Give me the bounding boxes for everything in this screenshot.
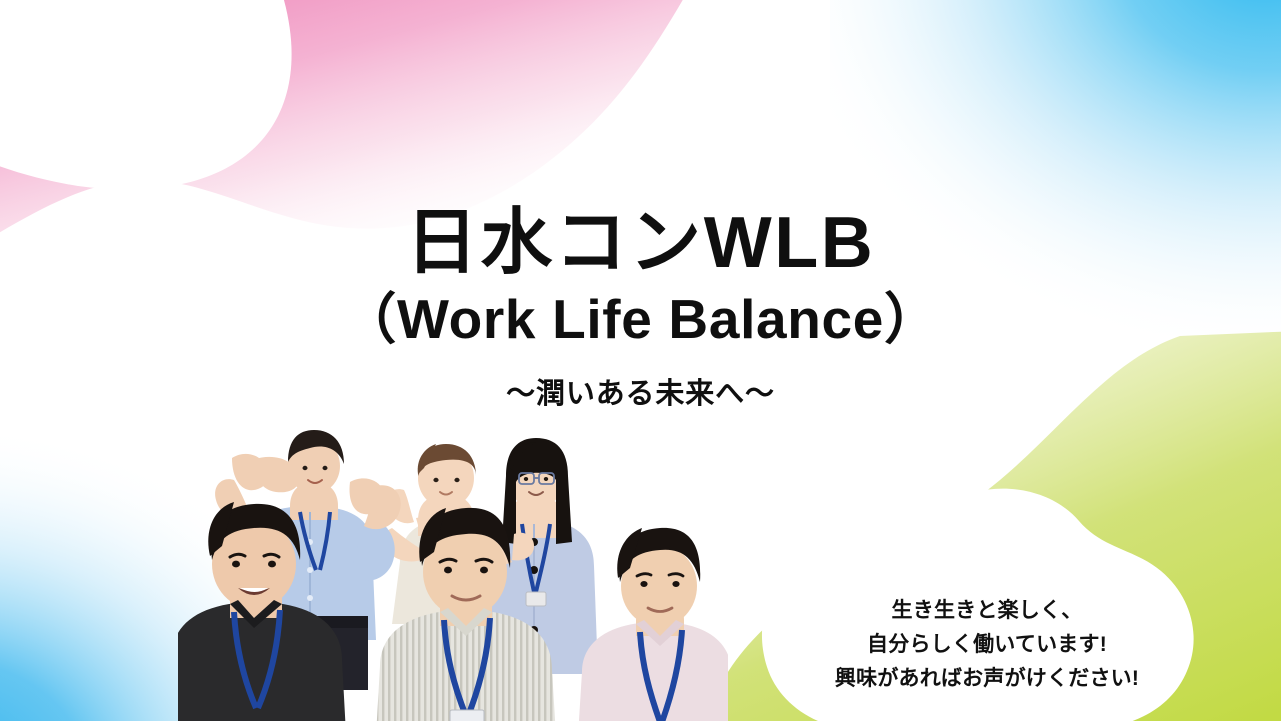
bubble-line-1: 生き生きと楽しく、	[757, 594, 1217, 628]
page-title: 日水コンWLB	[0, 206, 1281, 281]
headline-block: 日水コンWLB （Work Life Balance） ～潤いある未来へ～	[0, 206, 1281, 412]
bubble-line-2: 自分らしく働いています!	[757, 628, 1217, 662]
slide-root: 生き生きと楽しく、 自分らしく働いています! 興味があればお声がけください!	[0, 0, 1281, 721]
bubble-line-3: 興味があればお声がけください!	[757, 662, 1217, 696]
person-front-right	[578, 528, 728, 721]
speech-bubble: 生き生きと楽しく、 自分らしく働いています! 興味があればお声がけください!	[757, 487, 1217, 721]
group-photo-illustration	[178, 424, 728, 721]
speech-bubble-text: 生き生きと楽しく、 自分らしく働いています! 興味があればお声がけください!	[757, 594, 1217, 696]
group-photo	[178, 424, 728, 721]
page-tagline: ～潤いある未来へ～	[0, 370, 1281, 412]
pink-blob-cutout	[0, 0, 292, 190]
page-subtitle: （Work Life Balance）	[0, 285, 1281, 354]
